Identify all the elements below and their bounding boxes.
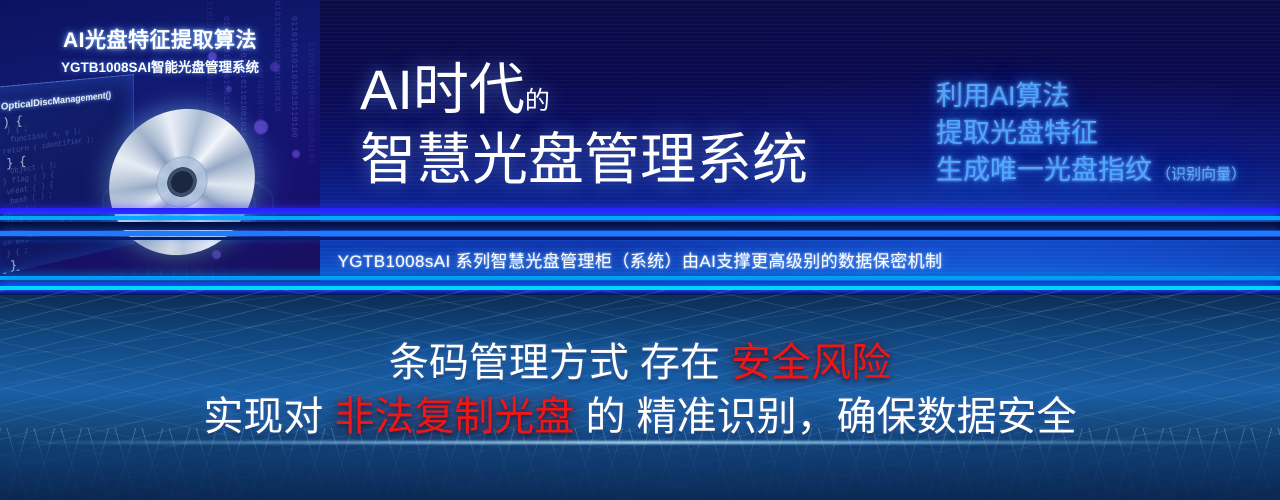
bottom-line-2: 实现对 非法复制光盘 的 精准识别，确保数据安全	[0, 390, 1280, 444]
bokeh-dot	[254, 120, 268, 134]
glow-band-2	[0, 216, 1280, 220]
feature-item-2: 提取光盘特征	[936, 115, 1246, 152]
left-panel-title: AI光盘特征提取算法	[0, 24, 320, 54]
feature-item-1: 利用AI算法	[936, 78, 1246, 115]
headline-line-1-main: AI时代	[360, 58, 525, 121]
bottom-plain-text: 的 精准识别，确保数据安全	[574, 395, 1076, 439]
feature-list: 利用AI算法提取光盘特征生成唯一光盘指纹 （识别向量）	[936, 78, 1246, 193]
glow-band-6	[0, 276, 1280, 280]
subtitle-text: YGTB1008sAI 系列智慧光盘管理柜（系统）由AI支撑更高级别的数据保密机…	[338, 247, 943, 272]
bokeh-dot	[292, 150, 300, 158]
headline-line-2: 智慧光盘管理系统	[360, 132, 880, 188]
promo-banner: 1011010010100111001011001001101001010011…	[0, 0, 1280, 500]
glow-band-1	[0, 208, 1280, 214]
feature-item-text: 利用AI算法	[936, 81, 1070, 111]
bottom-highlight-text: 安全风险	[731, 341, 891, 385]
bottom-copy-block: 条码管理方式 存在 安全风险 实现对 非法复制光盘 的 精准识别，确保数据安全	[0, 336, 1280, 444]
headline-block: AI时代的 智慧光盘管理系统	[360, 62, 880, 188]
feature-item-text: 生成唯一光盘指纹	[936, 155, 1152, 185]
headline-line-1: AI时代的	[360, 62, 880, 118]
bottom-highlight-text: 非法复制光盘	[334, 395, 574, 439]
bottom-plain-text: 条码管理方式 存在	[389, 341, 731, 385]
bokeh-dot	[226, 86, 232, 92]
glow-band-4	[0, 231, 1280, 236]
feature-item-3: 生成唯一光盘指纹 （识别向量）	[936, 152, 1246, 193]
headline-line-1-suffix: 的	[525, 87, 550, 115]
feature-item-note: （识别向量）	[1152, 166, 1246, 183]
glow-band-3	[0, 222, 1280, 230]
glow-band-5	[0, 237, 1280, 240]
subtitle-strip: YGTB1008sAI 系列智慧光盘管理柜（系统）由AI支撑更高级别的数据保密机…	[0, 242, 1280, 276]
left-panel-subtitle: YGTB1008SAI智能光盘管理系统	[0, 56, 320, 76]
code-label: OpticalDiscManagement()	[1, 90, 111, 113]
code-body: ) { } { ; function( x, y ); return ( ide…	[0, 75, 133, 89]
feature-item-text: 提取光盘特征	[936, 118, 1098, 148]
bottom-plain-text: 实现对	[203, 395, 334, 439]
top-hero-section: 1011010010100111001011001001101001010011…	[0, 0, 1280, 290]
bottom-line-1: 条码管理方式 存在 安全风险	[0, 336, 1280, 390]
